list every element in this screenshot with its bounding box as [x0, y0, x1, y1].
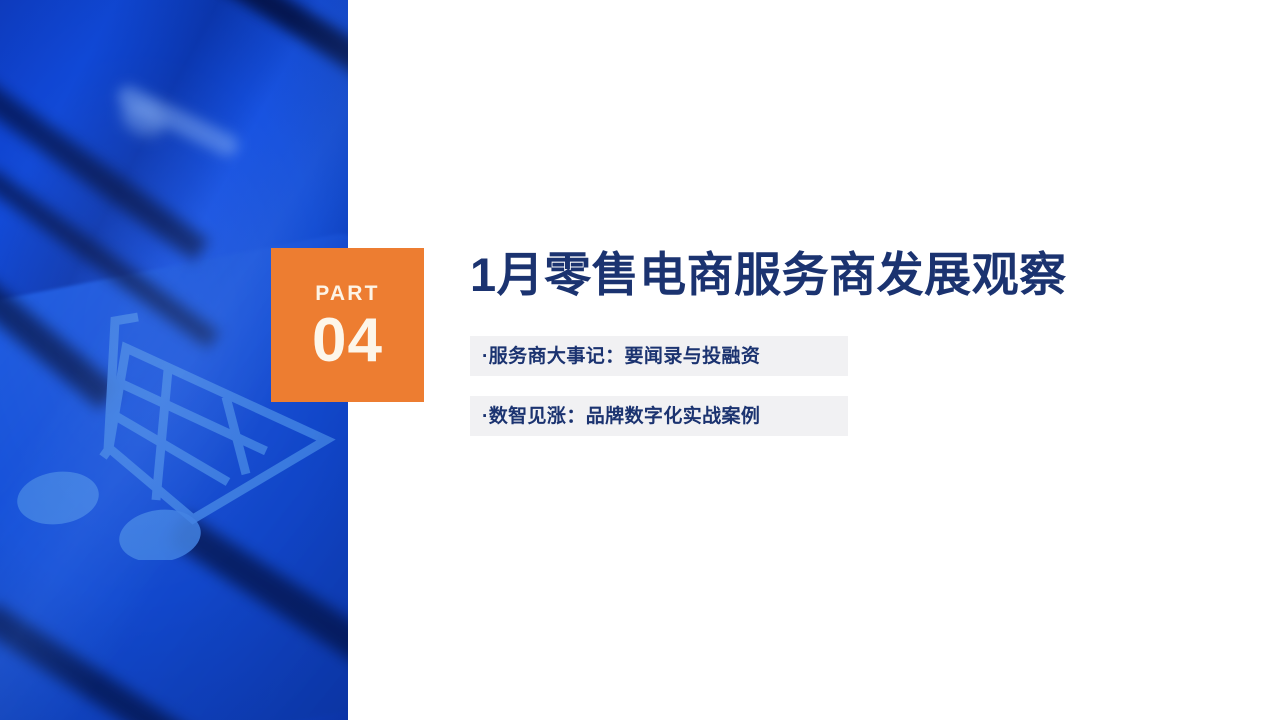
slide-root: PART 04 1月零售电商服务商发展观察 ·服务商大事记：要闻录与投融资 ·数… [0, 0, 1280, 720]
subtitle-bar-1: ·服务商大事记：要闻录与投融资 [470, 336, 848, 376]
content-area: 1月零售电商服务商发展观察 ·服务商大事记：要闻录与投融资 ·数智见涨：品牌数字… [470, 248, 1170, 456]
subtitle-bar-2: ·数智见涨：品牌数字化实战案例 [470, 396, 848, 436]
part-number-badge: PART 04 [271, 248, 424, 402]
subtitle-text-2: ·数智见涨：品牌数字化实战案例 [482, 407, 760, 426]
page-title: 1月零售电商服务商发展观察 [470, 248, 1170, 302]
subtitle-text-1: ·服务商大事记：要闻录与投融资 [482, 347, 760, 366]
part-number: 04 [312, 310, 383, 372]
part-label: PART [315, 283, 379, 304]
